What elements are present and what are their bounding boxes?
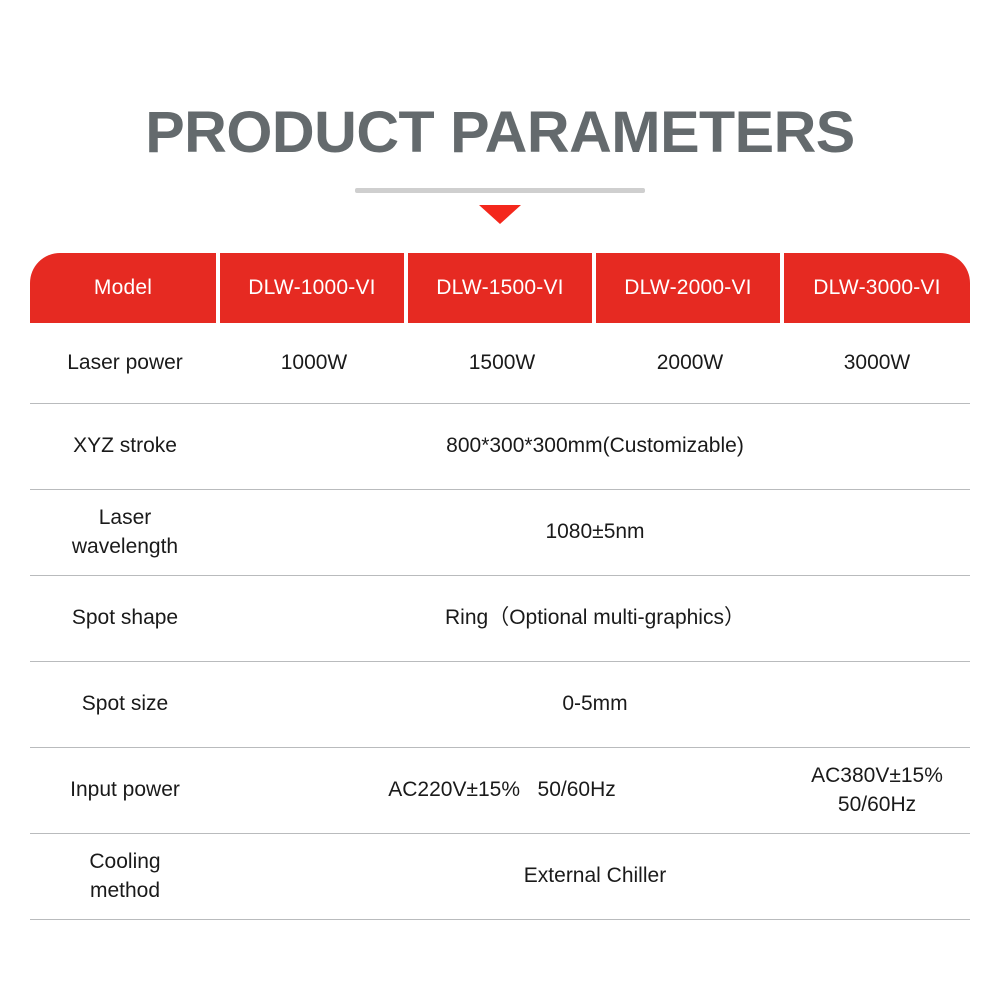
triangle-down-icon	[479, 205, 521, 224]
row-label: Laser power	[30, 323, 220, 403]
row-value-last-column: AC380V±15% 50/60Hz	[784, 748, 970, 833]
row-value: 1000W	[220, 323, 408, 403]
row-label: Cooling method	[30, 834, 220, 919]
title-decoration	[0, 188, 1000, 224]
table-row: Spot shape Ring（Optional multi-graphics）	[30, 576, 970, 662]
row-value: 1080±5nm	[220, 490, 970, 575]
table-row: Laser wavelength 1080±5nm	[30, 490, 970, 576]
row-label: Spot size	[30, 662, 220, 747]
row-label: Spot shape	[30, 576, 220, 661]
row-label: Input power	[30, 748, 220, 833]
table-row: Input power AC220V±15% 50/60Hz AC380V±15…	[30, 748, 970, 834]
row-value: 3000W	[784, 323, 970, 403]
row-label: Laser wavelength	[30, 490, 220, 575]
row-value: AC220V±15% 50/60Hz	[220, 748, 784, 833]
horizontal-rule-icon	[355, 188, 645, 193]
table-row: XYZ stroke 800*300*300mm(Customizable)	[30, 404, 970, 490]
page-header: PRODUCT PARAMETERS	[0, 0, 1000, 224]
row-value: External Chiller	[220, 834, 970, 919]
table-row: Cooling method External Chiller	[30, 834, 970, 920]
page-title: PRODUCT PARAMETERS	[0, 104, 1000, 162]
table-header-row: Model DLW-1000-VI DLW-1500-VI DLW-2000-V…	[30, 253, 970, 323]
row-value: Ring（Optional multi-graphics）	[220, 576, 970, 661]
table-header-cell-model: Model	[30, 253, 216, 323]
table-header-cell-dlw1500: DLW-1500-VI	[408, 253, 592, 323]
table-body: Laser power 1000W 1500W 2000W 3000W XYZ …	[30, 323, 970, 920]
table-header-cell-dlw3000: DLW-3000-VI	[784, 253, 970, 323]
table-row: Laser power 1000W 1500W 2000W 3000W	[30, 323, 970, 404]
row-value: 1500W	[408, 323, 596, 403]
table-header-cell-dlw2000: DLW-2000-VI	[596, 253, 780, 323]
row-label: XYZ stroke	[30, 404, 220, 489]
table-row: Spot size 0-5mm	[30, 662, 970, 748]
row-value: 800*300*300mm(Customizable)	[220, 404, 970, 489]
product-parameters-table: Model DLW-1000-VI DLW-1500-VI DLW-2000-V…	[30, 253, 970, 920]
table-header-cell-dlw1000: DLW-1000-VI	[220, 253, 404, 323]
row-value: 2000W	[596, 323, 784, 403]
row-value: 0-5mm	[220, 662, 970, 747]
